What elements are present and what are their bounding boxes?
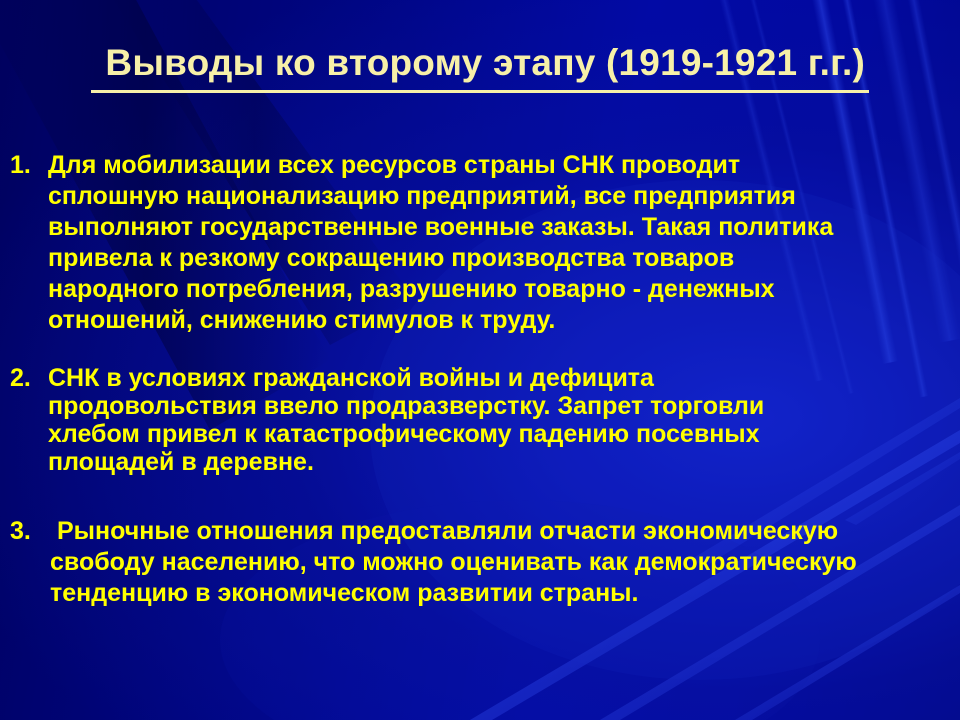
text-line: привела к резкому сокращению производств… [48,243,946,274]
text-line: выполняют государственные военные заказы… [48,212,946,243]
presentation-slide: Выводы ко второму этапу (1919-1921 г.г.)… [0,0,960,720]
list-item-number: 1. [10,150,48,181]
slide-body: 1. Для мобилизации всех ресурсов страны … [0,150,960,609]
text-line: Для мобилизации всех ресурсов страны СНК… [48,150,946,181]
list-item-text: СНК в условиях гражданской войны и дефиц… [48,364,946,476]
text-line: площадей в деревне. [48,448,946,476]
text-line: Рыночные отношения предоставляли отчасти… [50,516,946,547]
text-line: свободу населению, что можно оценивать к… [50,547,946,578]
list-item: 3. Рыночные отношения предоставляли отча… [10,516,946,609]
text-line: СНК в условиях гражданской войны и дефиц… [48,364,946,392]
list-item-text: Рыночные отношения предоставляли отчасти… [50,516,946,609]
slide-title-container: Выводы ко второму этапу (1919-1921 г.г.) [0,44,960,93]
list-item: 1. Для мобилизации всех ресурсов страны … [10,150,946,336]
list-item-number: 2. [10,364,48,392]
page-title: Выводы ко второму этапу (1919-1921 г.г.) [91,44,869,93]
text-line: сплошную национализацию предприятий, все… [48,181,946,212]
list-item: 2. СНК в условиях гражданской войны и де… [10,364,946,476]
text-line: отношений, снижению стимулов к труду. [48,305,946,336]
text-line: народного потребления, разрушению товарн… [48,274,946,305]
text-line: продовольствия ввело продразверстку. Зап… [48,392,946,420]
text-line: тенденцию в экономическом развитии стран… [50,578,946,609]
list-item-number: 3. [10,516,50,547]
text-line: хлебом привел к катастрофическому падени… [48,420,946,448]
list-item-text: Для мобилизации всех ресурсов страны СНК… [48,150,946,336]
